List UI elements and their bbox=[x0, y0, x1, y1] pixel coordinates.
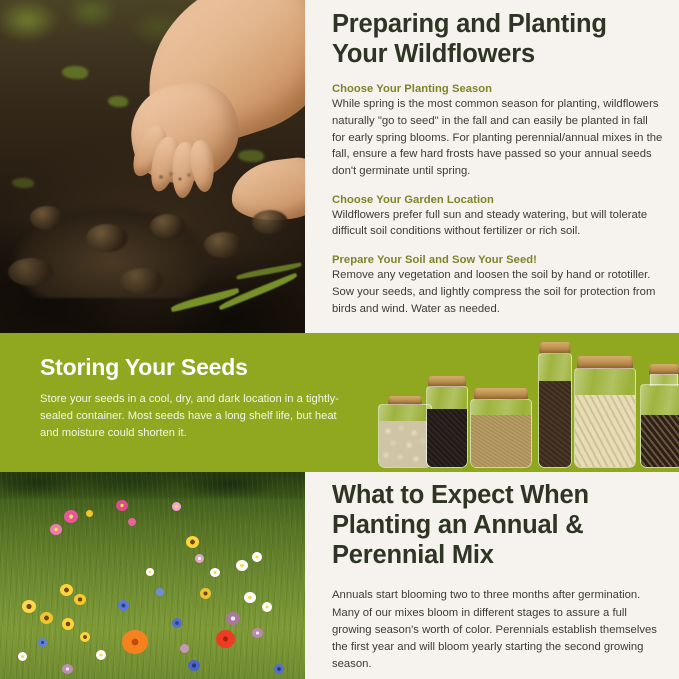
flower-yellow bbox=[22, 600, 36, 613]
flower-yellow bbox=[80, 632, 90, 642]
seed-fill bbox=[427, 409, 467, 467]
seed-fill bbox=[471, 415, 531, 467]
jar-striped-seeds bbox=[640, 364, 679, 468]
flower-white-daisy bbox=[18, 652, 27, 661]
seed-fill bbox=[575, 395, 635, 467]
flower-yellow bbox=[40, 612, 53, 624]
flower-yellow bbox=[74, 594, 86, 605]
jar-tall-dark-seeds bbox=[538, 342, 572, 468]
storing-seeds-text: Storing Your Seeds Store your seeds in a… bbox=[40, 355, 340, 442]
infographic-page: Preparing and Planting Your Wildflowers … bbox=[0, 0, 679, 679]
preparing-planting-text-column: Preparing and Planting Your Wildflowers … bbox=[332, 10, 664, 317]
jar-white-beans bbox=[378, 396, 432, 468]
flower-yellow bbox=[186, 536, 199, 548]
flower-white-daisy bbox=[252, 552, 262, 562]
what-to-expect-title: What to Expect When Planting an Annual &… bbox=[332, 481, 662, 570]
soil-clump bbox=[30, 206, 64, 230]
flower-blue bbox=[274, 664, 284, 674]
flower-white-daisy bbox=[210, 568, 220, 577]
what-to-expect-body: Annuals start blooming two to three mont… bbox=[332, 587, 662, 673]
tree-line bbox=[0, 472, 305, 498]
flower-pale-pink bbox=[172, 502, 181, 511]
body-garden-location: Wildflowers prefer full sun and steady w… bbox=[332, 207, 664, 240]
storing-seeds-section: Storing Your Seeds Store your seeds in a… bbox=[0, 333, 679, 472]
seed-fill bbox=[539, 381, 571, 467]
flower-pink bbox=[50, 524, 62, 535]
flower-red-poppy bbox=[216, 630, 235, 648]
flower-white-daisy bbox=[146, 568, 154, 576]
flower-orange-poppy bbox=[122, 630, 148, 654]
seed-jars-image bbox=[378, 337, 673, 468]
flower-blue bbox=[118, 600, 129, 611]
flower-mauve bbox=[62, 664, 73, 674]
storing-seeds-title: Storing Your Seeds bbox=[40, 355, 340, 380]
flower-yellow bbox=[62, 618, 74, 630]
flower-yellow bbox=[200, 588, 211, 599]
seed-fill bbox=[641, 415, 679, 467]
flower-pink bbox=[64, 510, 78, 523]
jar-black-seeds bbox=[426, 376, 468, 468]
storing-seeds-body: Store your seeds in a cool, dry, and dar… bbox=[40, 391, 340, 441]
block-garden-location: Choose Your Garden Location Wildflowers … bbox=[332, 194, 664, 240]
subheading-planting-season: Choose Your Planting Season bbox=[332, 83, 664, 95]
jar-tan-seeds bbox=[470, 388, 532, 468]
soil-clump bbox=[204, 232, 244, 258]
soil-clump bbox=[120, 268, 164, 294]
wildflower-meadow-image bbox=[0, 472, 305, 679]
subheading-prepare-soil: Prepare Your Soil and Sow Your Seed! bbox=[332, 254, 664, 266]
flower-yellow bbox=[60, 584, 73, 596]
soil-clump bbox=[86, 224, 128, 252]
sprout-icon bbox=[108, 96, 128, 107]
seed-fill bbox=[379, 421, 431, 467]
flower-pale-pink bbox=[195, 554, 204, 563]
page-title: Preparing and Planting Your Wildflowers bbox=[332, 10, 664, 69]
flower-mauve bbox=[252, 628, 263, 638]
subheading-garden-location: Choose Your Garden Location bbox=[332, 194, 664, 206]
flower-white-daisy bbox=[244, 592, 256, 603]
flower-pink bbox=[128, 518, 136, 526]
flower-mauve bbox=[180, 644, 189, 653]
flower-mauve bbox=[226, 612, 240, 625]
sprout-icon bbox=[238, 150, 264, 162]
hand-sowing-seeds-image bbox=[0, 0, 305, 333]
flower-blue bbox=[172, 618, 182, 628]
flower-blue bbox=[156, 588, 164, 596]
block-prepare-soil: Prepare Your Soil and Sow Your Seed! Rem… bbox=[332, 254, 664, 317]
soil-clump bbox=[150, 214, 186, 239]
flower-white-daisy bbox=[262, 602, 272, 612]
block-planting-season: Choose Your Planting Season While spring… bbox=[332, 83, 664, 180]
flower-white-daisy bbox=[236, 560, 248, 571]
flower-white-daisy bbox=[96, 650, 106, 660]
jar-pumpkin-seeds bbox=[574, 356, 636, 468]
flower-yellow bbox=[86, 510, 93, 517]
body-prepare-soil: Remove any vegetation and loosen the soi… bbox=[332, 267, 664, 317]
meadow-background bbox=[0, 472, 305, 679]
flower-pink bbox=[116, 500, 128, 511]
body-planting-season: While spring is the most common season f… bbox=[332, 96, 664, 180]
sprout-icon bbox=[62, 66, 88, 79]
soil-clump bbox=[252, 210, 288, 234]
flower-blue bbox=[38, 638, 47, 647]
what-to-expect-text-column: What to Expect When Planting an Annual &… bbox=[332, 481, 662, 673]
soil-clump bbox=[8, 258, 54, 286]
flower-blue bbox=[188, 660, 200, 671]
